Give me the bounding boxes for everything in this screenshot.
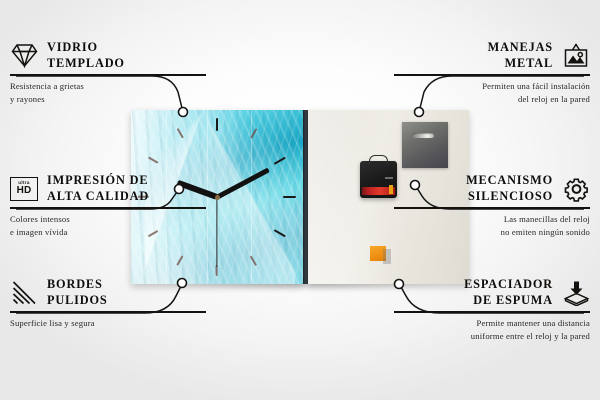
feature-subtitle: Las manecillas del relojno emiten ningún… — [394, 209, 590, 238]
metal-hanger-plate — [402, 122, 448, 168]
ultra-hd-icon: ultra HD — [10, 175, 38, 203]
ultra-hd-main-text: HD — [17, 186, 32, 196]
hour-marker-7 — [177, 255, 184, 265]
hands-center-cap — [215, 195, 220, 200]
hour-marker-10 — [148, 157, 158, 164]
product-infographic: VIDRIOTEMPLADO Resistencia a grietasy ra… — [0, 0, 600, 400]
feature-title: VIDRIOTEMPLADO — [47, 40, 206, 71]
ultra-hd-box: ultra HD — [10, 177, 38, 201]
feature-title: BORDESPULIDOS — [47, 277, 206, 308]
hour-marker-2 — [274, 157, 286, 165]
feature-manejas-metal: MANEJASMETAL Permiten una fácil instalac… — [394, 40, 590, 105]
foam-spacer-icon — [562, 279, 590, 307]
feature-vidrio-templado: VIDRIOTEMPLADO Resistencia a grietasy ra… — [10, 40, 206, 105]
hour-marker-12 — [216, 118, 218, 131]
feature-header: ESPACIADORDE ESPUMA — [394, 277, 590, 311]
mechanism-hanging-loop — [369, 155, 388, 165]
feature-header: BORDESPULIDOS — [10, 277, 206, 311]
gear-icon — [562, 175, 590, 203]
feature-mecanismo-silencioso: MECANISMOSILENCIOSO Las manecillas del r… — [394, 173, 590, 238]
feature-title: MANEJASMETAL — [394, 40, 553, 71]
feature-subtitle: Superficie lisa y segura — [10, 313, 206, 330]
feature-title: IMPRESIÓN DEALTA CALIDAD — [47, 173, 206, 204]
feature-subtitle: Colores intensose imagen vívida — [10, 209, 206, 238]
feature-header: ultra HD IMPRESIÓN DEALTA CALIDAD — [10, 173, 206, 207]
feature-subtitle: Permiten una fácil instalacióndel reloj … — [394, 76, 590, 105]
hour-marker-3 — [283, 196, 296, 198]
foam-spacer-pad — [370, 246, 386, 261]
second-hand — [216, 197, 217, 267]
feature-header: MANEJASMETAL — [394, 40, 590, 74]
minute-hand — [216, 168, 270, 200]
feature-subtitle: Resistencia a grietasy rayones — [10, 76, 206, 105]
polished-edges-icon — [10, 279, 38, 307]
feature-header: MECANISMOSILENCIOSO — [394, 173, 590, 207]
feature-bordes-pulidos: BORDESPULIDOS Superficie lisa y segura — [10, 277, 206, 330]
feature-espaciador-espuma: ESPACIADORDE ESPUMA Permite mantener una… — [394, 277, 590, 342]
mechanism-label-mark — [385, 177, 393, 179]
hour-marker-4 — [274, 229, 286, 237]
feature-impresion-alta-calidad: ultra HD IMPRESIÓN DEALTA CALIDAD Colore… — [10, 173, 206, 238]
mechanism-battery — [362, 187, 395, 195]
feature-header: VIDRIOTEMPLADO — [10, 40, 206, 74]
clock-mechanism-box — [360, 161, 397, 198]
feature-title: ESPACIADORDE ESPUMA — [394, 277, 553, 308]
diamond-icon — [10, 42, 38, 70]
hanging-picture-icon — [562, 42, 590, 70]
feature-subtitle: Permite mantener una distanciauniforme e… — [394, 313, 590, 342]
hour-marker-1 — [250, 128, 257, 138]
hour-marker-11 — [177, 128, 184, 138]
hour-marker-5 — [250, 255, 257, 265]
feature-title: MECANISMOSILENCIOSO — [394, 173, 553, 204]
hanger-slot — [412, 133, 434, 138]
